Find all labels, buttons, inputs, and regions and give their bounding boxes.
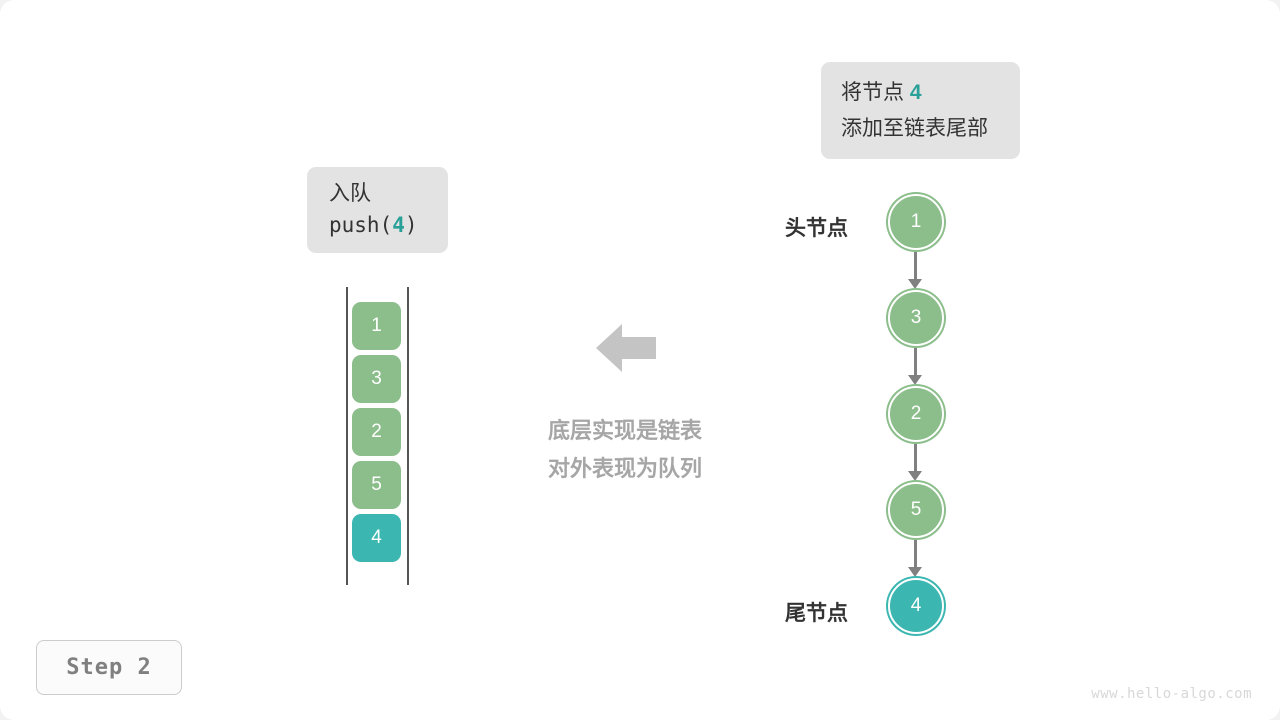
diagram-canvas: 入队 push(4) 将节点 4 添加至链表尾部 13254 底层实现是链表 对… xyxy=(0,0,1280,720)
list-node: 2 xyxy=(888,386,944,442)
node-connector-arrowhead xyxy=(908,471,922,481)
queue-cell: 3 xyxy=(352,355,401,403)
node-connector-line xyxy=(914,252,917,280)
arrow-left-icon xyxy=(596,322,656,374)
push-call-suffix: ) xyxy=(405,213,418,237)
node-connector-line xyxy=(914,348,917,376)
list-node: 3 xyxy=(888,290,944,346)
push-label-plate: 入队 push(4) xyxy=(307,167,448,253)
linked-list-chain: 13254 xyxy=(888,194,952,644)
watermark: www.hello-algo.com xyxy=(1091,686,1252,702)
queue-cell: 5 xyxy=(352,461,401,509)
node-connector-line xyxy=(914,540,917,568)
head-node-label: 头节点 xyxy=(785,212,848,242)
append-label-plate: 将节点 4 添加至链表尾部 xyxy=(821,62,1020,159)
queue-cell-list: 13254 xyxy=(352,302,401,562)
queue-cell: 1 xyxy=(352,302,401,350)
queue-cell: 2 xyxy=(352,408,401,456)
node-connector-arrowhead xyxy=(908,375,922,385)
push-label-call: push(4) xyxy=(329,209,448,241)
push-label-line1: 入队 xyxy=(329,179,448,209)
push-call-prefix: push( xyxy=(329,213,392,237)
middle-caption: 底层实现是链表 对外表现为队列 xyxy=(500,412,750,488)
append-label-line2: 添加至链表尾部 xyxy=(841,111,1020,147)
middle-caption-line1: 底层实现是链表 xyxy=(500,412,750,450)
node-connector-arrowhead xyxy=(908,279,922,289)
append-line1-prefix: 将节点 xyxy=(841,81,910,104)
append-line1-value: 4 xyxy=(910,81,922,104)
queue-column: 13254 xyxy=(340,282,415,592)
append-label-line1: 将节点 4 xyxy=(841,75,1020,111)
step-badge: Step 2 xyxy=(36,640,182,695)
list-node: 1 xyxy=(888,194,944,250)
queue-rail-left xyxy=(346,287,348,585)
queue-rail-right xyxy=(407,287,409,585)
node-connector-line xyxy=(914,444,917,472)
tail-node-label: 尾节点 xyxy=(785,597,848,627)
node-connector-arrowhead xyxy=(908,567,922,577)
middle-caption-line2: 对外表现为队列 xyxy=(500,450,750,488)
queue-cell: 4 xyxy=(352,514,401,562)
push-call-value: 4 xyxy=(392,213,405,237)
list-node: 4 xyxy=(888,578,944,634)
list-node: 5 xyxy=(888,482,944,538)
